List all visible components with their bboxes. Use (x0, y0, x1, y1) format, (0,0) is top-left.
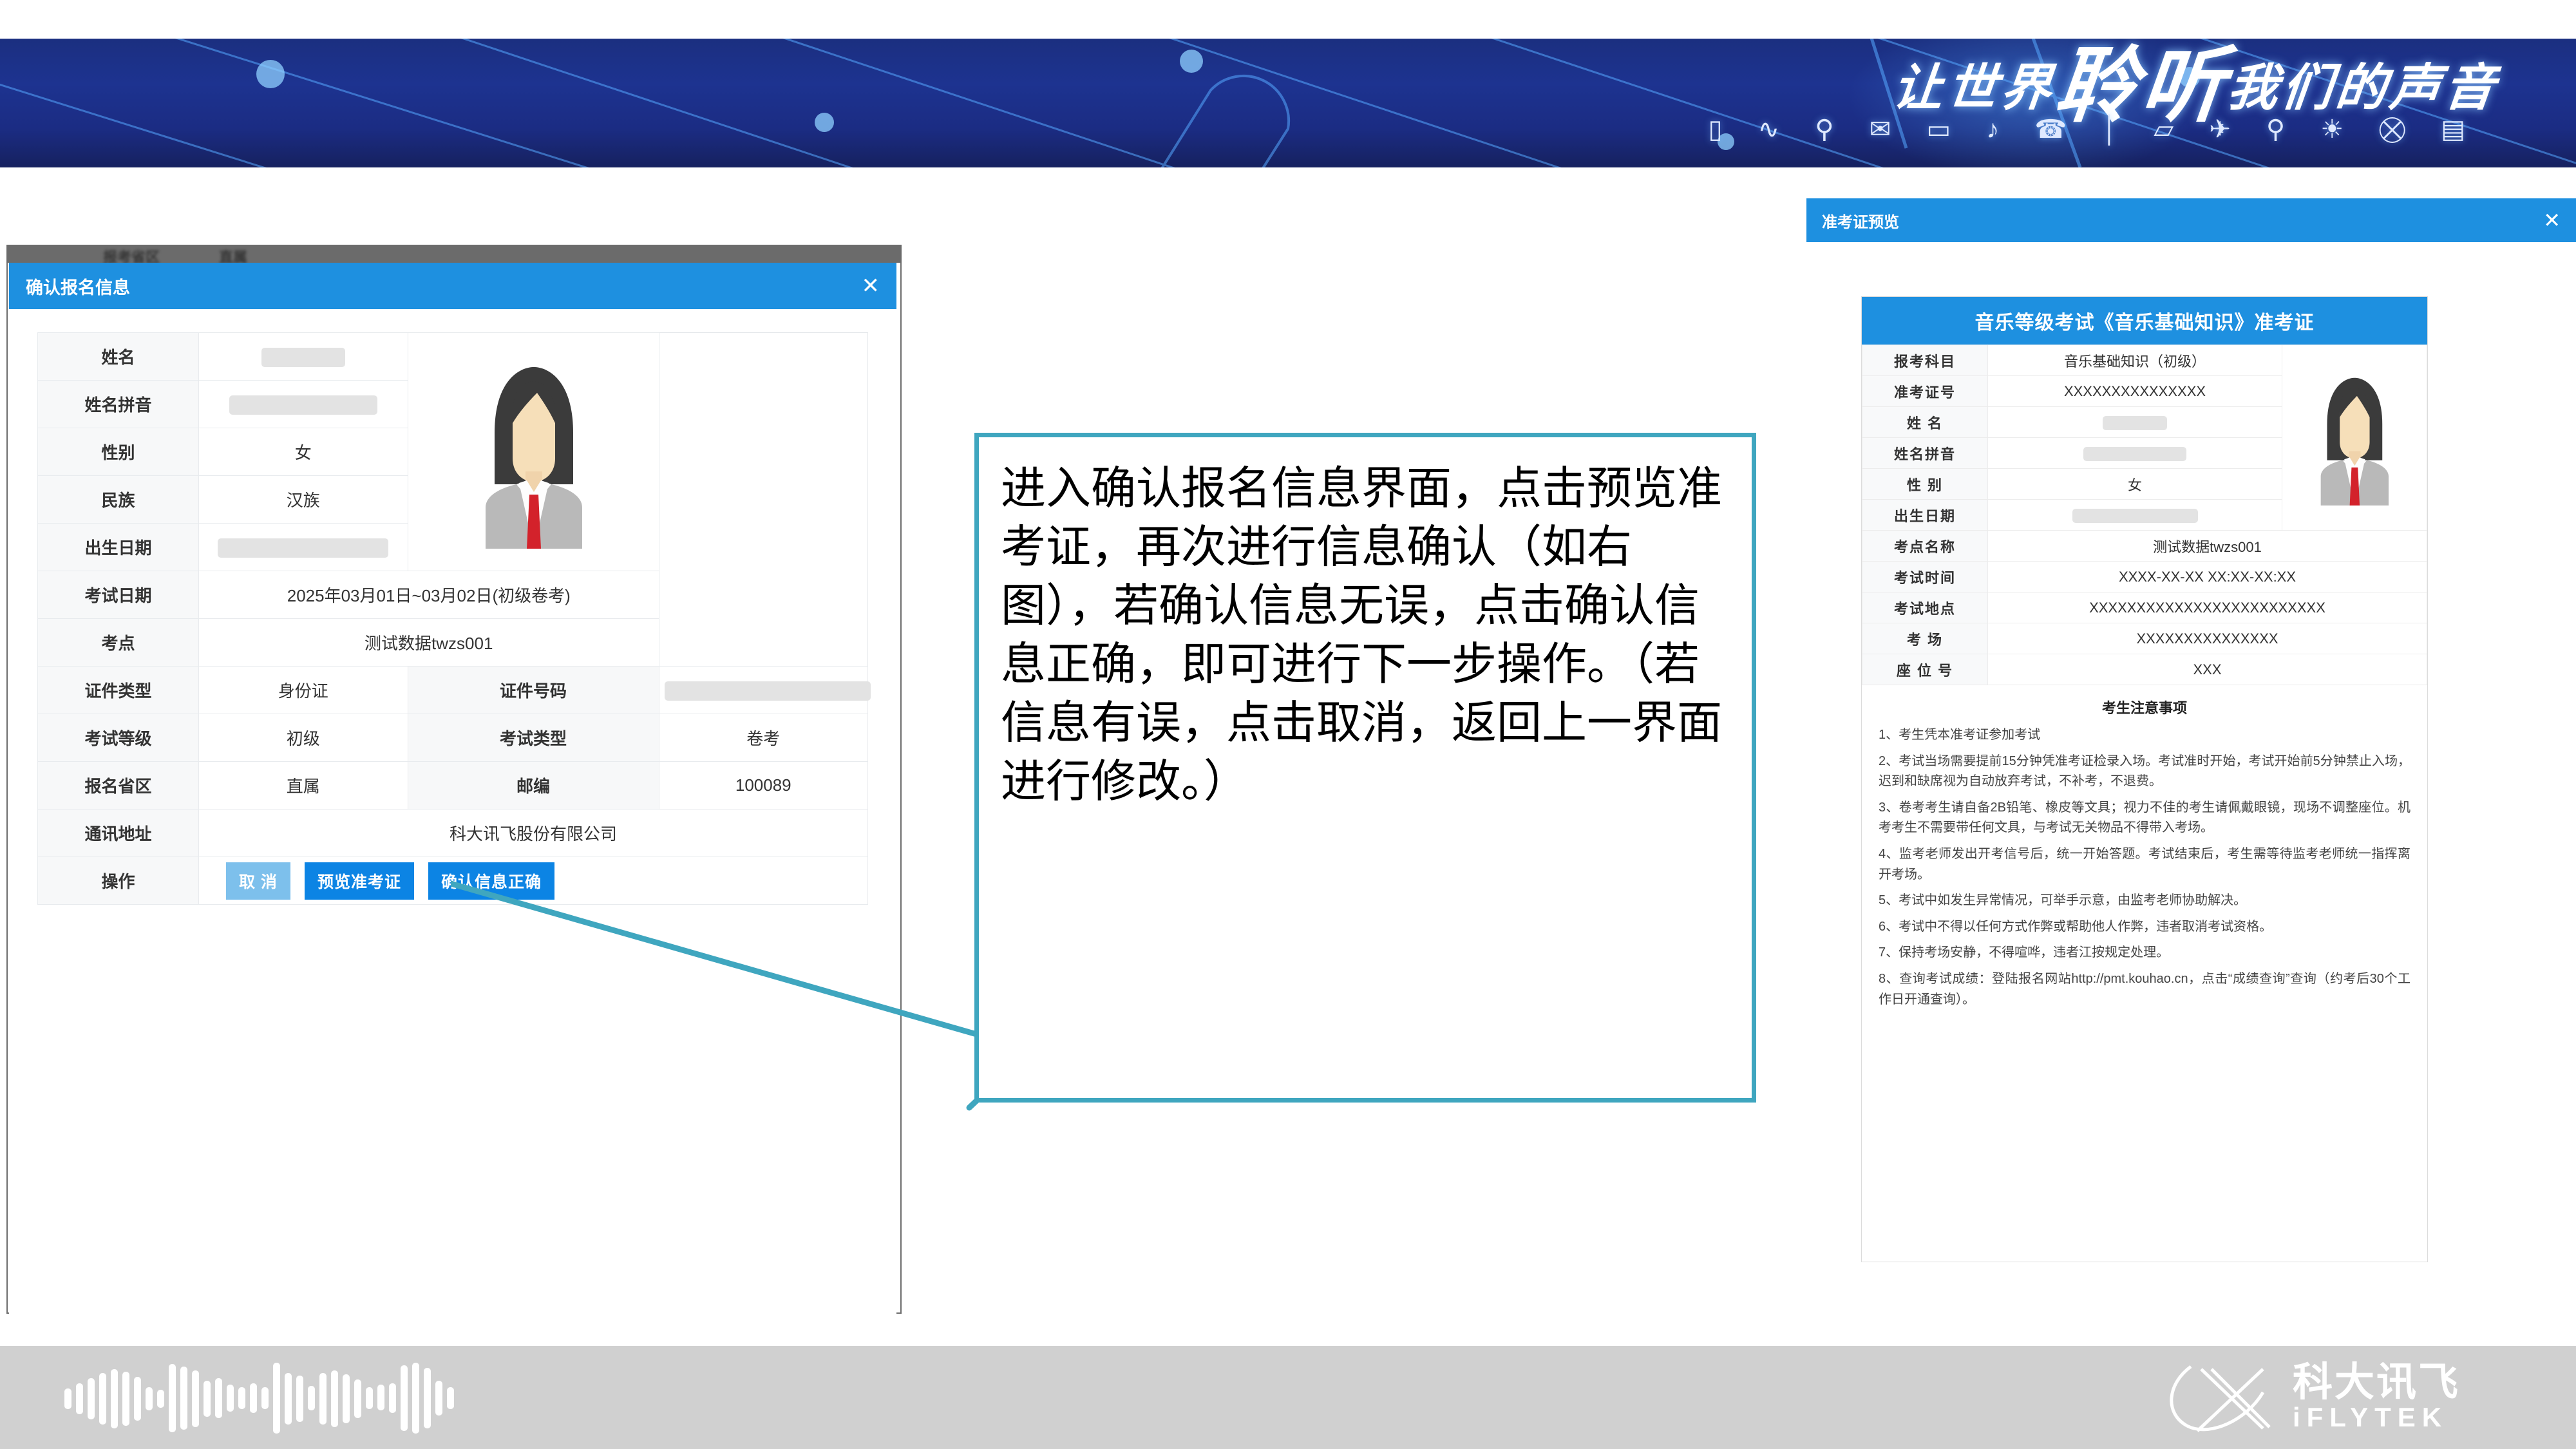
ticket-label-2: 姓 名 (1862, 407, 1988, 438)
ticket-value-10: XXX (1988, 654, 2427, 685)
name-value (199, 333, 408, 381)
table-row: 报考科目 音乐基础知识（初级） (1862, 345, 2427, 376)
ticket-value-1: XXXXXXXXXXXXXXX (1988, 376, 2282, 407)
candidate-notice-section: 考生注意事项 1、考生凭本准考证参加考试 2、考试当场需要提前15分钟凭准考证检… (1862, 685, 2427, 1031)
close-icon[interactable]: ✕ (862, 275, 880, 297)
table-row: 证件类型 身份证 证件号码 (38, 667, 868, 714)
ticket-value-3 (1988, 438, 2282, 469)
ticket-label-0: 报考科目 (1862, 345, 1988, 376)
notice-item: 1、考生凭本准考证参加考试 (1879, 725, 2410, 746)
table-row: 报名省区 直属 邮编 100089 (38, 762, 868, 810)
close-icon[interactable]: ✕ (2543, 210, 2561, 231)
preview-panel-title: 准考证预览 (1822, 209, 1899, 232)
dialog-titlebar: 确认报名信息 ✕ (9, 263, 896, 309)
exam-site-label: 考点 (38, 619, 199, 667)
iflytek-mark-icon (2166, 1359, 2276, 1436)
ethnicity-value: 汉族 (199, 476, 408, 524)
confirm-info-correct-button[interactable]: 确认信息正确 (428, 862, 554, 900)
id-no-value (659, 667, 868, 714)
notice-item: 4、监考老师发出开考信号后，统一开始答题。考试结束后，考生需等待监考老师统一指挥… (1879, 844, 2410, 885)
ticket-value-7: XXXX-XX-XX XX:XX-XX:XX (1988, 562, 2427, 592)
ethnicity-label: 民族 (38, 476, 199, 524)
admission-ticket-preview-panel: 准考证预览 ✕ 音乐等级考试《音乐基础知识》准考证 报考科目 音乐基础知识（初级… (1806, 198, 2576, 1293)
notice-item: 7、保持考场安静，不得喧哗，违者江按规定处理。 (1879, 943, 2410, 963)
address-value: 科大讯飞股份有限公司 (199, 810, 868, 857)
portrait-illustration (2313, 368, 2396, 507)
table-row: 考试等级 初级 考试类型 卷考 (38, 714, 868, 762)
table-row: 操作 取 消 预览准考证 确认信息正确 (38, 857, 868, 905)
table-row: 通讯地址 科大讯飞股份有限公司 (38, 810, 868, 857)
redacted-pinyin (2083, 447, 2186, 461)
level-label: 考试等级 (38, 714, 199, 762)
ticket-value-4: 女 (1988, 469, 2282, 500)
ticket-value-9: XXXXXXXXXXXXXXX (1988, 623, 2427, 654)
table-row: 姓名 (38, 333, 868, 381)
slogan-suffix: 我们的声音 (2225, 59, 2502, 117)
applicant-photo-cell (408, 333, 659, 571)
logo-text-english: iFLYTEK (2293, 1403, 2460, 1432)
exam-date-value: 2025年03月01日~03月02日(初级卷考) (199, 571, 659, 619)
table-row: 考点名称 测试数据twzs001 (1862, 531, 2427, 562)
avatar (2313, 368, 2396, 507)
exam-date-label: 考试日期 (38, 571, 199, 619)
preview-titlebar: 准考证预览 ✕ (1806, 198, 2576, 242)
id-type-label: 证件类型 (38, 667, 199, 714)
ticket-value-2 (1988, 407, 2282, 438)
operation-cell: 取 消 预览准考证 确认信息正确 (199, 857, 868, 905)
ticket-label-10: 座 位 号 (1862, 654, 1988, 685)
ticket-label-3: 姓名拼音 (1862, 438, 1988, 469)
notice-item: 2、考试当场需要提前15分钟凭准考证检录入场。考试准时开始，考试开始前5分钟禁止… (1879, 752, 2410, 792)
slogan-prefix: 让世界 (1889, 59, 2058, 117)
table-row: 座 位 号 XXX (1862, 654, 2427, 685)
admission-ticket: 音乐等级考试《音乐基础知识》准考证 报考科目 音乐基础知识（初级） (1861, 296, 2428, 1262)
ticket-label-9: 考 场 (1862, 623, 1988, 654)
exam-type-value: 卷考 (659, 714, 868, 762)
iflytek-logo: 科大讯飞 iFLYTEK (2166, 1359, 2460, 1436)
dialog-body: 姓名 姓名拼 (9, 309, 896, 1314)
redacted-name (2103, 416, 2167, 430)
postcode-label: 邮编 (408, 762, 659, 810)
level-value: 初级 (199, 714, 408, 762)
header-banner: 让世界聆听我们的声音 ▯ ∿ ⚲ ✉ ▭ ♪ ☎ │ ▱ ✈ ⚲ ☀ ⛒ ▤ (0, 39, 2576, 167)
birthdate-value (199, 524, 408, 571)
exam-site-value: 测试数据twzs001 (199, 619, 659, 667)
cancel-button[interactable]: 取 消 (226, 862, 290, 900)
instruction-callout: 进入确认报名信息界面，点击预览准考证，再次进行信息确认（如右图），若确认信息无误… (974, 433, 1756, 1103)
avatar (474, 355, 593, 549)
dialog-button-row: 取 消 预览准考证 确认信息正确 (204, 862, 862, 900)
table-row: 考试日期 2025年03月01日~03月02日(初级卷考) (38, 571, 868, 619)
preview-admission-ticket-button[interactable]: 预览准考证 (305, 862, 414, 900)
banner-icon-strip: ▯ ∿ ⚲ ✉ ▭ ♪ ☎ │ ▱ ✈ ⚲ ☀ ⛒ ▤ (1709, 115, 2479, 144)
notice-item: 8、查询考试成绩：登陆报名网站http://pmt.kouhao.cn，点击“成… (1879, 969, 2410, 1010)
gender-label: 性别 (38, 428, 199, 476)
ticket-photo-cell (2282, 345, 2427, 531)
province-label: 报名省区 (38, 762, 199, 810)
logo-text-chinese: 科大讯飞 (2293, 1363, 2460, 1403)
table-row: 考试地点 XXXXXXXXXXXXXXXXXXXXXXXXX (1862, 592, 2427, 623)
notice-item: 6、考试中不得以任何方式作弊或帮助他人作弊，违者取消考试资格。 (1879, 917, 2410, 938)
table-row: 考 场 XXXXXXXXXXXXXXX (1862, 623, 2427, 654)
background-page-header-strip: 报考省区 直属 (6, 245, 902, 263)
table-row: 考点 测试数据twzs001 (38, 619, 868, 667)
ticket-value-8: XXXXXXXXXXXXXXXXXXXXXXXXX (1988, 592, 2427, 623)
registration-info-table: 姓名 姓名拼 (37, 332, 868, 905)
redacted-id-number (665, 681, 871, 701)
ticket-info-table: 报考科目 音乐基础知识（初级） (1862, 345, 2427, 685)
instruction-text: 进入确认报名信息界面，点击预览准考证，再次进行信息确认（如右图），若确认信息无误… (1001, 459, 1732, 811)
ticket-label-6: 考点名称 (1862, 531, 1988, 562)
ticket-value-6: 测试数据twzs001 (1988, 531, 2427, 562)
notice-item: 5、考试中如发生异常情况，可举手示意，由监考老师协助解决。 (1879, 891, 2410, 911)
ticket-label-5: 出生日期 (1862, 500, 1988, 531)
address-label: 通讯地址 (38, 810, 199, 857)
id-type-value: 身份证 (199, 667, 408, 714)
ticket-value-0: 音乐基础知识（初级） (1988, 345, 2282, 376)
notice-title: 考生注意事项 (1879, 697, 2410, 717)
redacted-birthdate (2072, 509, 2198, 523)
birthdate-label: 出生日期 (38, 524, 199, 571)
ticket-label-8: 考试地点 (1862, 592, 1988, 623)
pinyin-value (199, 381, 408, 428)
ticket-label-1: 准考证号 (1862, 376, 1988, 407)
postcode-value: 100089 (659, 762, 868, 810)
ticket-label-7: 考试时间 (1862, 562, 1988, 592)
banner-slogan: 让世界聆听我们的声音 (1889, 48, 2503, 120)
gender-value: 女 (199, 428, 408, 476)
ticket-label-4: 性 别 (1862, 469, 1988, 500)
redacted-birthdate (218, 538, 388, 558)
name-label: 姓名 (38, 333, 199, 381)
ticket-value-5 (1988, 500, 2282, 531)
ticket-header-title: 音乐等级考试《音乐基础知识》准考证 (1862, 297, 2427, 345)
exam-type-label: 考试类型 (408, 714, 659, 762)
portrait-illustration (474, 355, 593, 549)
redacted-pinyin (229, 395, 377, 415)
table-row: 考试时间 XXXX-XX-XX XX:XX-XX:XX (1862, 562, 2427, 592)
notice-item: 3、卷考考生请自备2B铅笔、橡皮等文具；视力不佳的考生请佩戴眼镜，现场不调整座位… (1879, 798, 2410, 838)
audio-waveform-decoration (64, 1359, 489, 1436)
operation-label: 操作 (38, 857, 199, 905)
redacted-name (261, 348, 345, 367)
province-value: 直属 (199, 762, 408, 810)
pinyin-label: 姓名拼音 (38, 381, 199, 428)
id-no-label: 证件号码 (408, 667, 659, 714)
dialog-title: 确认报名信息 (26, 274, 130, 299)
